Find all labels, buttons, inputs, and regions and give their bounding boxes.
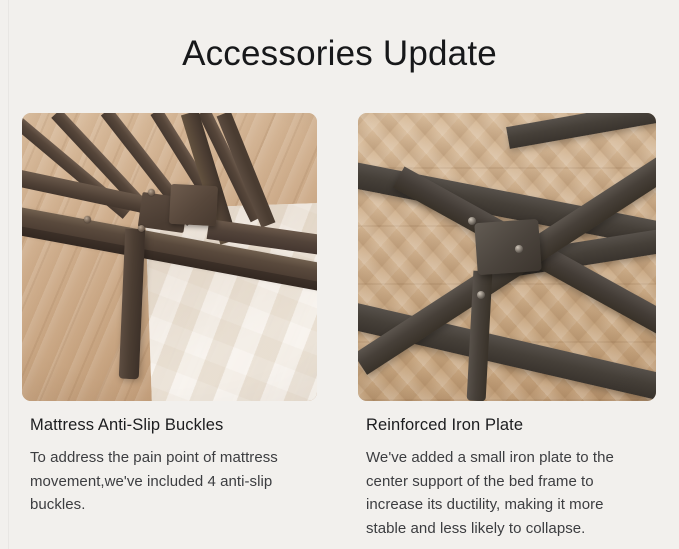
- rivet: [515, 245, 523, 253]
- caption-body: We've added a small iron plate to the ce…: [366, 446, 648, 540]
- panel-reinforced-iron-plate: Reinforced Iron Plate We've added a smal…: [358, 113, 656, 401]
- left-edge-divider: [8, 0, 9, 549]
- rivet: [138, 225, 145, 232]
- rivet: [84, 216, 91, 223]
- caption-heading: Mattress Anti-Slip Buckles: [30, 416, 223, 435]
- rivet: [148, 189, 155, 196]
- photo-mattress-anti-slip-buckles: [22, 113, 317, 401]
- anti-slip-buckle-plate: [169, 184, 218, 226]
- panel-mattress-anti-slip-buckles: Mattress Anti-Slip Buckles To address th…: [22, 113, 317, 401]
- accessories-update-page: Accessories Update Matt: [0, 0, 679, 549]
- caption-heading: Reinforced Iron Plate: [366, 416, 523, 435]
- page-title: Accessories Update: [0, 34, 679, 74]
- photo-reinforced-iron-plate: [358, 113, 656, 401]
- rivet: [477, 291, 485, 299]
- rivet: [468, 217, 476, 225]
- caption-body: To address the pain point of mattress mo…: [30, 446, 312, 517]
- reinforced-iron-plate: [474, 219, 541, 275]
